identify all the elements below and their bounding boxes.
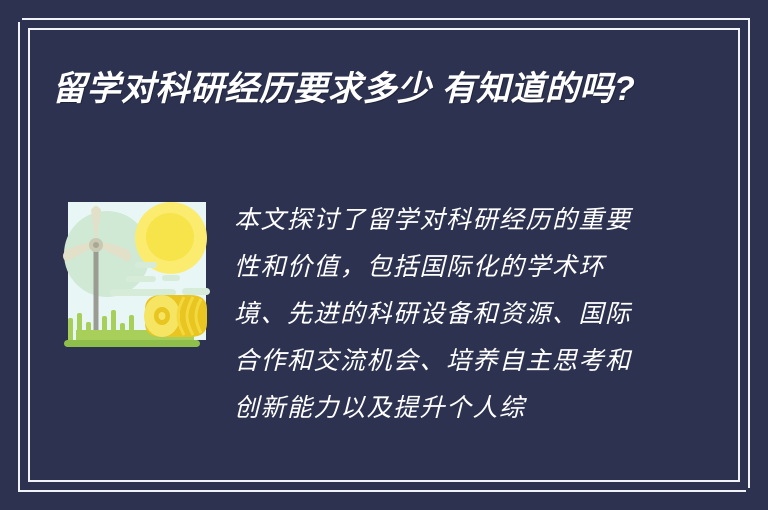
frame-corner-mask-top-left (0, 0, 22, 22)
content-row: 本文探讨了留学对科研经历的重要性和价值，包括国际化的学术环境、先进的科研设备和资… (50, 196, 722, 431)
article-cover-card: 留学对科研经历要求多少 有知道的吗? (0, 0, 768, 510)
page-title: 留学对科研经历要求多少 有知道的吗? (52, 62, 652, 116)
cloud-streak (135, 262, 157, 268)
ground-bar (64, 340, 200, 347)
illustration-svg (50, 196, 212, 362)
cloud-streak (182, 288, 210, 295)
cloud-streak (126, 276, 156, 282)
cloud-streak (110, 289, 176, 296)
article-summary-text: 本文探讨了留学对科研经历的重要性和价值，包括国际化的学术环境、先进的科研设备和资… (234, 196, 654, 431)
frame-corner-mask-bottom-right (746, 488, 768, 510)
sun-core (146, 213, 194, 261)
cloud-streak (162, 275, 180, 281)
windmill-hub-center (93, 242, 99, 248)
windmill-farm-illustration (50, 196, 212, 362)
hay-bale (144, 295, 207, 337)
windmill-pole (94, 244, 99, 342)
